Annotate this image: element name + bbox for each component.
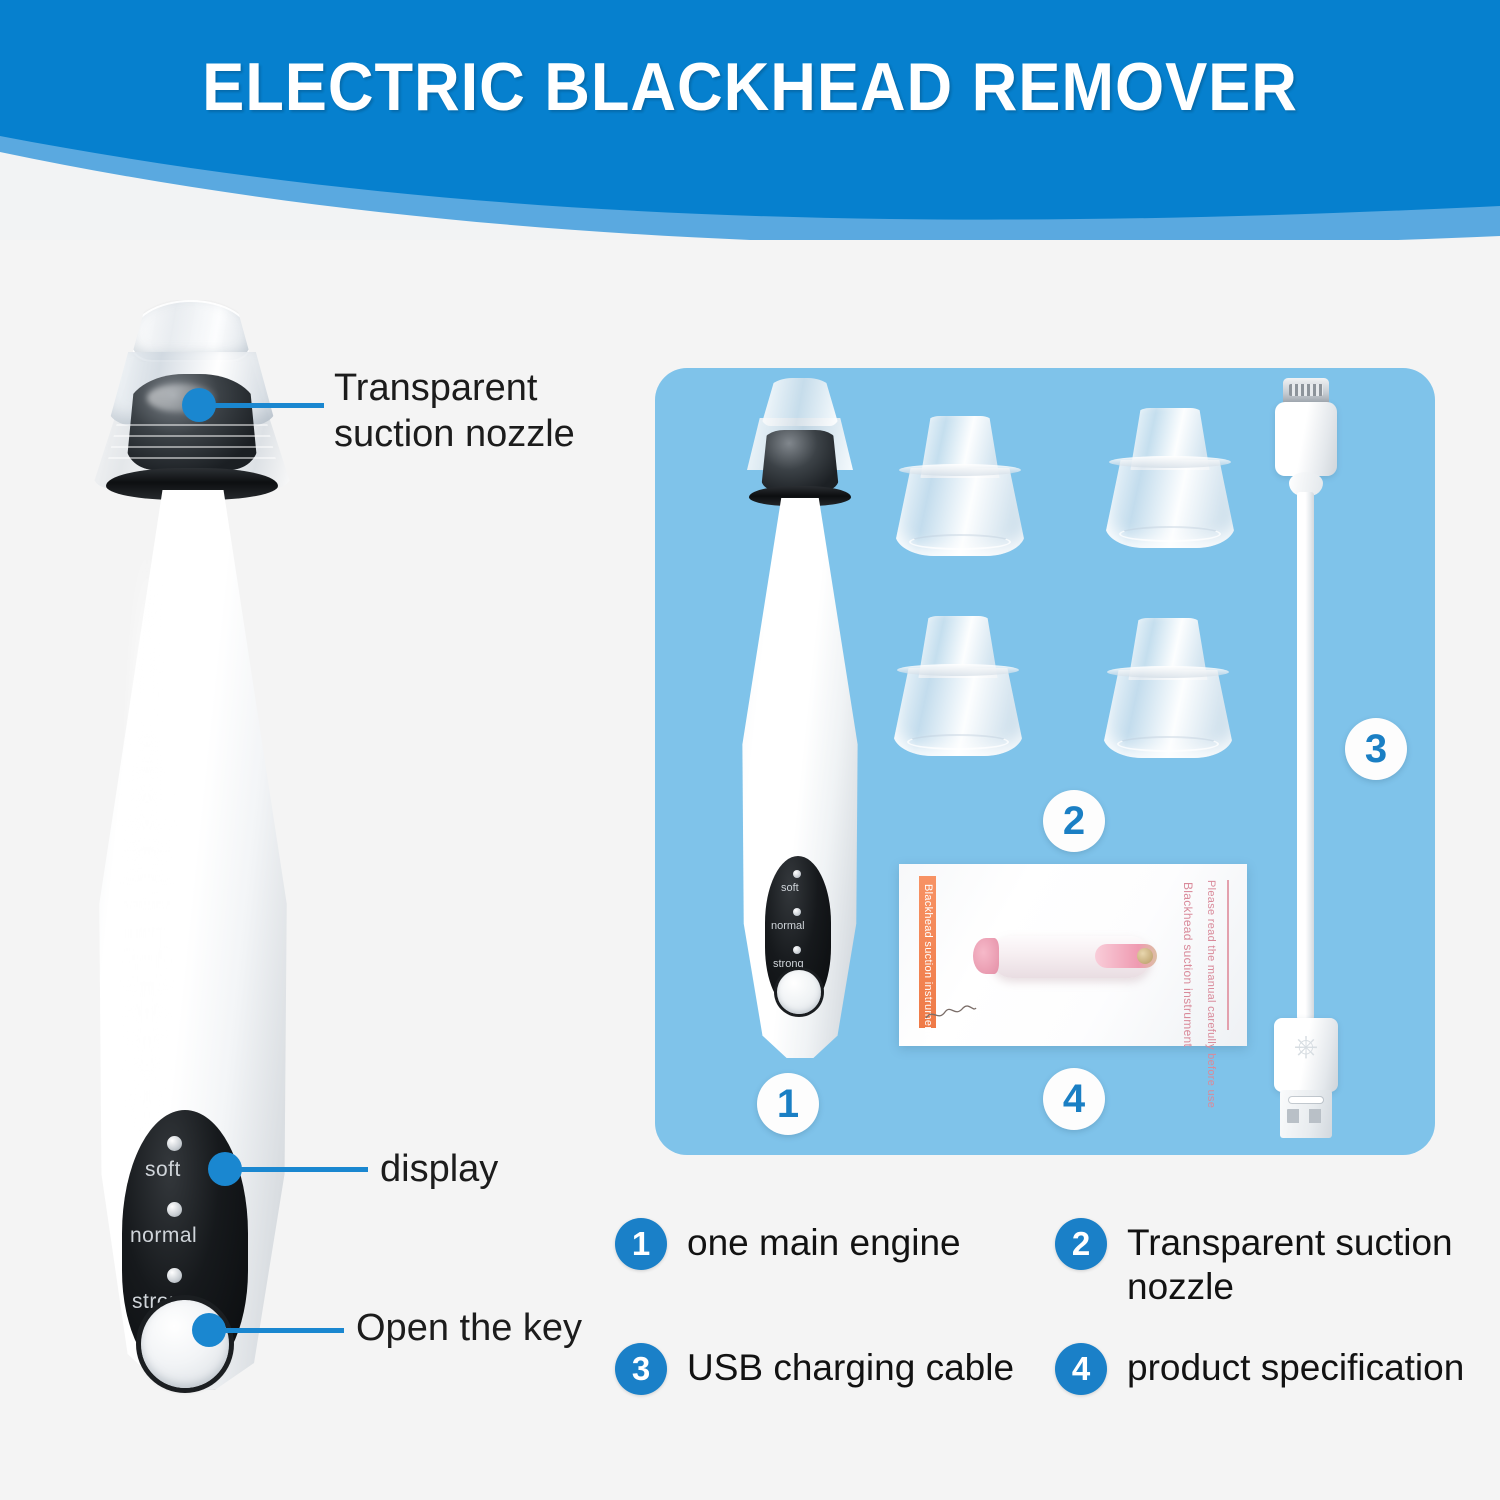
kit-badge-4: 4 (1043, 1068, 1105, 1130)
legend-badge-1: 1 (615, 1218, 667, 1270)
callout-label-display: display (380, 1146, 498, 1192)
legend-badge-4: 4 (1055, 1343, 1107, 1395)
legend-item-4: 4 product specification (1055, 1343, 1500, 1395)
kit-nozzle-tip (761, 378, 839, 426)
kit-nozzle-suction-chamber (761, 430, 839, 490)
legend-item-1: 1 one main engine (615, 1218, 1045, 1270)
usb-trident-icon: ⎈ (1294, 1032, 1318, 1062)
usb-a-connector-tip (1280, 1090, 1332, 1138)
legend-item-3: 3 USB charging cable (615, 1343, 1045, 1395)
booklet-device-window (1095, 944, 1157, 968)
suction-nozzle-cup-b (1105, 408, 1235, 548)
mode-label-normal: normal (130, 1224, 197, 1248)
product-specification-booklet: Blackhead suction instrument Blackhead s… (899, 864, 1247, 1046)
legend-label-3: USB charging cable (687, 1343, 1014, 1390)
callout-dot-display (208, 1152, 242, 1186)
legend-label-4: product specification (1127, 1343, 1464, 1390)
suction-nozzle-cup-a (895, 416, 1025, 556)
nozzle-cup-band (899, 464, 1021, 476)
led-strong-icon (167, 1268, 182, 1283)
usb-a-connector-housing: ⎈ (1274, 1018, 1338, 1092)
page-title: ELECTRIC BLACKHEAD REMOVER (53, 48, 1448, 126)
nozzle-cup-base-rim (907, 734, 1009, 750)
booklet-device-nozzle (973, 938, 999, 974)
kit-mode-label-normal: normal (771, 920, 805, 932)
nozzle-cup-band (1109, 456, 1231, 468)
page-header: ELECTRIC BLACKHEAD REMOVER (0, 0, 1500, 240)
suction-nozzle-cup-c (893, 616, 1023, 756)
nozzle-cup-base-rim (909, 534, 1011, 550)
nozzle-cup-base-rim (1117, 736, 1219, 752)
kit-led-normal-icon (793, 908, 801, 916)
legend-item-2: 2 Transparent suction nozzle (1055, 1218, 1500, 1308)
kit-power-button (777, 970, 821, 1014)
kit-badge-3: 3 (1345, 718, 1407, 780)
nozzle-cup-base-rim (1119, 526, 1221, 542)
kit-contents-panel: soft normal strong 1 2 ⎈ (655, 368, 1435, 1155)
hero-device-illustration: soft normal strong (70, 300, 370, 1420)
kit-led-soft-icon (793, 870, 801, 878)
suction-nozzle-cup-d (1103, 618, 1233, 758)
kit-badge-2: 2 (1043, 790, 1105, 852)
led-normal-icon (167, 1202, 182, 1217)
callout-line-nozzle (214, 403, 324, 408)
kit-badge-1: 1 (757, 1073, 819, 1135)
header-wave-decoration (0, 110, 1500, 240)
callout-dot-power (192, 1313, 226, 1347)
legend-badge-2: 2 (1055, 1218, 1107, 1270)
led-soft-icon (167, 1136, 182, 1151)
callout-label-power: Open the key (356, 1305, 582, 1351)
nozzle-cup-band (897, 664, 1019, 676)
callout-line-display (240, 1167, 368, 1172)
kit-led-strong-icon (793, 946, 801, 954)
kit-mode-label-strong: strong (773, 958, 804, 970)
nozzle-cup-band (1107, 666, 1229, 678)
booklet-subtitle-text: Please read the manual carefully before … (1205, 880, 1217, 1108)
kit-mode-label-soft: soft (781, 882, 799, 894)
kit-legend: 1 one main engine 2 Transparent suction … (615, 1218, 1500, 1428)
kit-main-engine: soft normal strong (725, 378, 875, 1068)
micro-usb-connector-housing (1275, 402, 1337, 476)
usb-cable-wire (1297, 492, 1314, 1020)
callout-label-nozzle: Transparent suction nozzle (334, 365, 575, 458)
mode-label-soft: soft (145, 1158, 181, 1182)
callout-dot-nozzle (182, 388, 216, 422)
booklet-title-text: Blackhead suction instrument (1181, 882, 1195, 1047)
booklet-squiggle-decoration (925, 1002, 977, 1024)
legend-badge-3: 3 (615, 1343, 667, 1395)
callout-line-power (224, 1328, 344, 1333)
booklet-rule-line (1227, 880, 1229, 1030)
legend-label-1: one main engine (687, 1218, 961, 1265)
micro-usb-connector-tip (1283, 378, 1329, 404)
legend-label-2: Transparent suction nozzle (1127, 1218, 1500, 1308)
